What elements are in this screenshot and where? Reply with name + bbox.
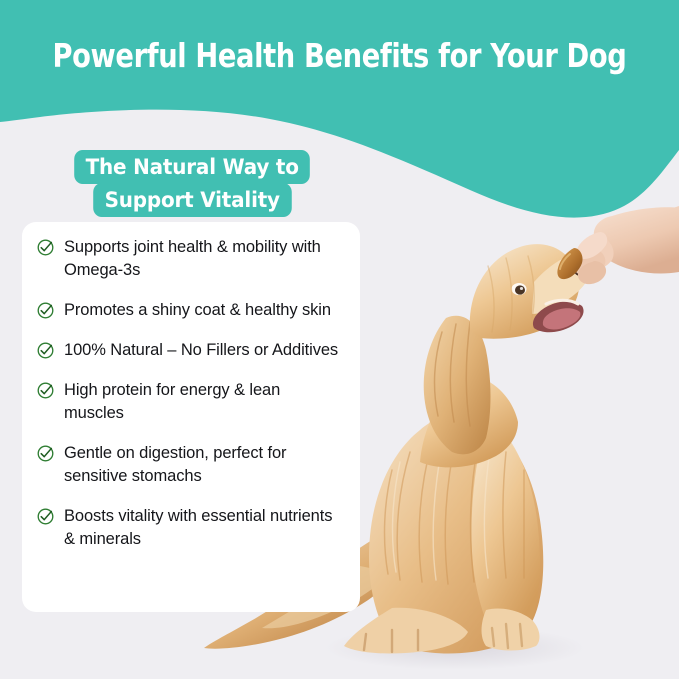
check-circle-icon	[36, 238, 55, 257]
check-circle-icon	[36, 381, 55, 400]
benefit-item: Gentle on digestion, perfect for sensiti…	[36, 442, 344, 488]
benefit-text: Supports joint health & mobility with Om…	[64, 236, 339, 282]
check-circle-icon	[36, 444, 55, 463]
benefit-text: 100% Natural – No Fillers or Additives	[64, 339, 338, 362]
benefit-item: Boosts vitality with essential nutrients…	[36, 505, 344, 551]
benefit-item: High protein for energy & lean muscles	[36, 379, 344, 425]
benefit-item: Promotes a shiny coat & healthy skin	[36, 299, 344, 322]
infographic-root: Powerful Health Benefits for Your Dog	[0, 0, 679, 679]
benefit-item: Supports joint health & mobility with Om…	[36, 236, 344, 282]
benefit-text: Gentle on digestion, perfect for sensiti…	[64, 442, 339, 488]
tagline-badge: The Natural Way to Support Vitality	[56, 150, 328, 217]
benefit-item: 100% Natural – No Fillers or Additives	[36, 339, 344, 362]
check-circle-icon	[36, 301, 55, 320]
check-circle-icon	[36, 507, 55, 526]
benefit-text: High protein for energy & lean muscles	[64, 379, 339, 425]
benefits-card: Supports joint health & mobility with Om…	[22, 222, 360, 612]
check-circle-icon	[36, 341, 55, 360]
tagline-line-2: Support Vitality	[93, 183, 291, 217]
benefit-text: Boosts vitality with essential nutrients…	[64, 505, 339, 551]
benefit-text: Promotes a shiny coat & healthy skin	[64, 299, 331, 322]
tagline-line-1: The Natural Way to	[74, 150, 310, 184]
page-title: Powerful Health Benefits for Your Dog	[27, 36, 652, 76]
